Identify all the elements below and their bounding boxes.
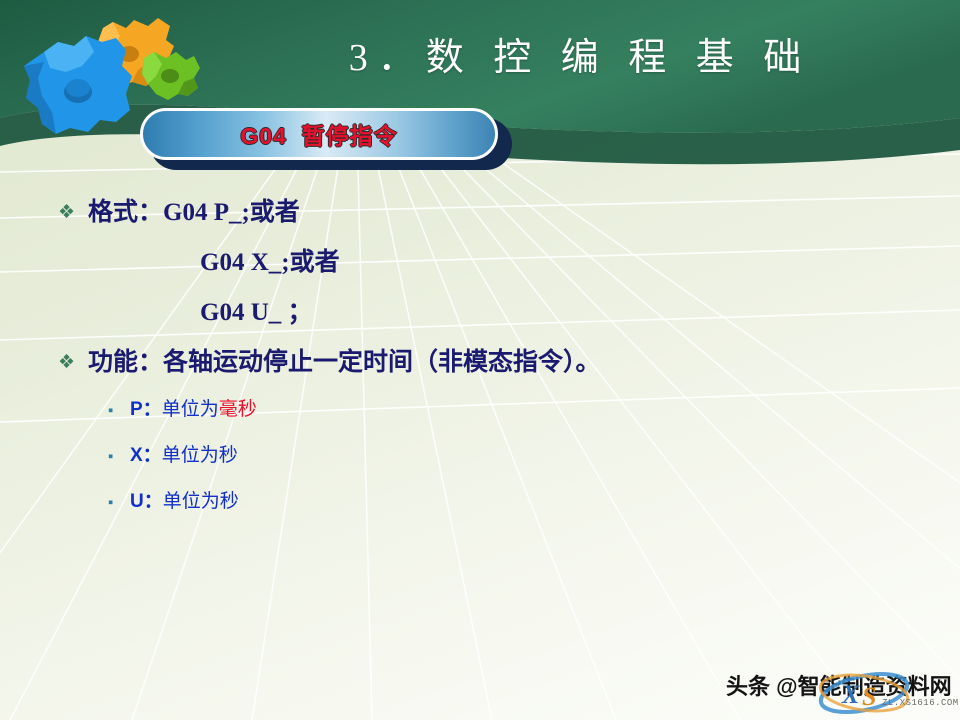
svg-text:S: S (862, 682, 876, 711)
slide-root: 3．数 控 编 程 基 础 (0, 0, 960, 720)
sub-key-u: U： (130, 491, 163, 512)
xs-logo-icon: X S (812, 671, 952, 715)
bullet-function: ❖ 功能：各轴运动停止一定时间（非模态指令）。 (0, 346, 960, 396)
sub-bullet-p: P：单位为毫秒 (130, 396, 257, 424)
format-code-1: G04 P_;或者 (163, 199, 300, 226)
footer-watermark: 头条 @智能制造资料网 X S ZL.XS1616.COM (700, 665, 960, 715)
banner-label: G04 暂停指令 (240, 117, 397, 151)
square-bullet-icon: ▪ (108, 397, 130, 425)
banner-title: 暂停指令 (302, 124, 398, 149)
banner-code: G04 (240, 123, 286, 149)
square-bullet-icon: ▪ (108, 443, 130, 471)
diamond-bullet-icon: ❖ (58, 196, 88, 230)
gear-green-icon (142, 52, 200, 100)
format-line-2: G04 X_;或者 (0, 246, 960, 296)
sub-bullet-u: U：单位为秒 (130, 488, 239, 516)
sub-highlight-p: 毫秒 (219, 399, 257, 420)
function-line: 功能：各轴运动停止一定时间（非模态指令）。 (88, 346, 601, 380)
sub-text-u: 单位为秒 (163, 491, 239, 512)
gear-blue-icon (24, 36, 132, 134)
format-line-3: G04 U_ ； (0, 296, 960, 346)
banner-pill: G04 暂停指令 (140, 108, 498, 160)
format-label: 格式： (88, 199, 163, 226)
square-bullet-icon: ▪ (108, 489, 130, 517)
list-item: ▪ X：单位为秒 (108, 442, 960, 488)
footer-url: ZL.XS1616.COM (882, 698, 959, 708)
sub-bullet-x: X：单位为秒 (130, 442, 238, 470)
sub-key-x: X： (130, 445, 162, 466)
list-item: ▪ U：单位为秒 (108, 488, 960, 534)
section-banner: G04 暂停指令 (140, 108, 512, 170)
sub-key-p: P： (130, 399, 162, 420)
bullet-format: ❖ 格式：G04 P_;或者 (0, 196, 960, 246)
sub-text-p: 单位为 (162, 399, 219, 420)
page-title: 3．数 控 编 程 基 础 (300, 26, 860, 81)
svg-text:X: X (841, 680, 860, 709)
list-item: ▪ P：单位为毫秒 (108, 396, 960, 442)
diamond-bullet-icon: ❖ (58, 346, 88, 380)
sub-text-x: 单位为秒 (162, 445, 238, 466)
format-line-1: 格式：G04 P_;或者 (88, 196, 300, 230)
slide-body: ❖ 格式：G04 P_;或者 G04 X_;或者 G04 U_ ； ❖ 功能：各… (0, 196, 960, 534)
